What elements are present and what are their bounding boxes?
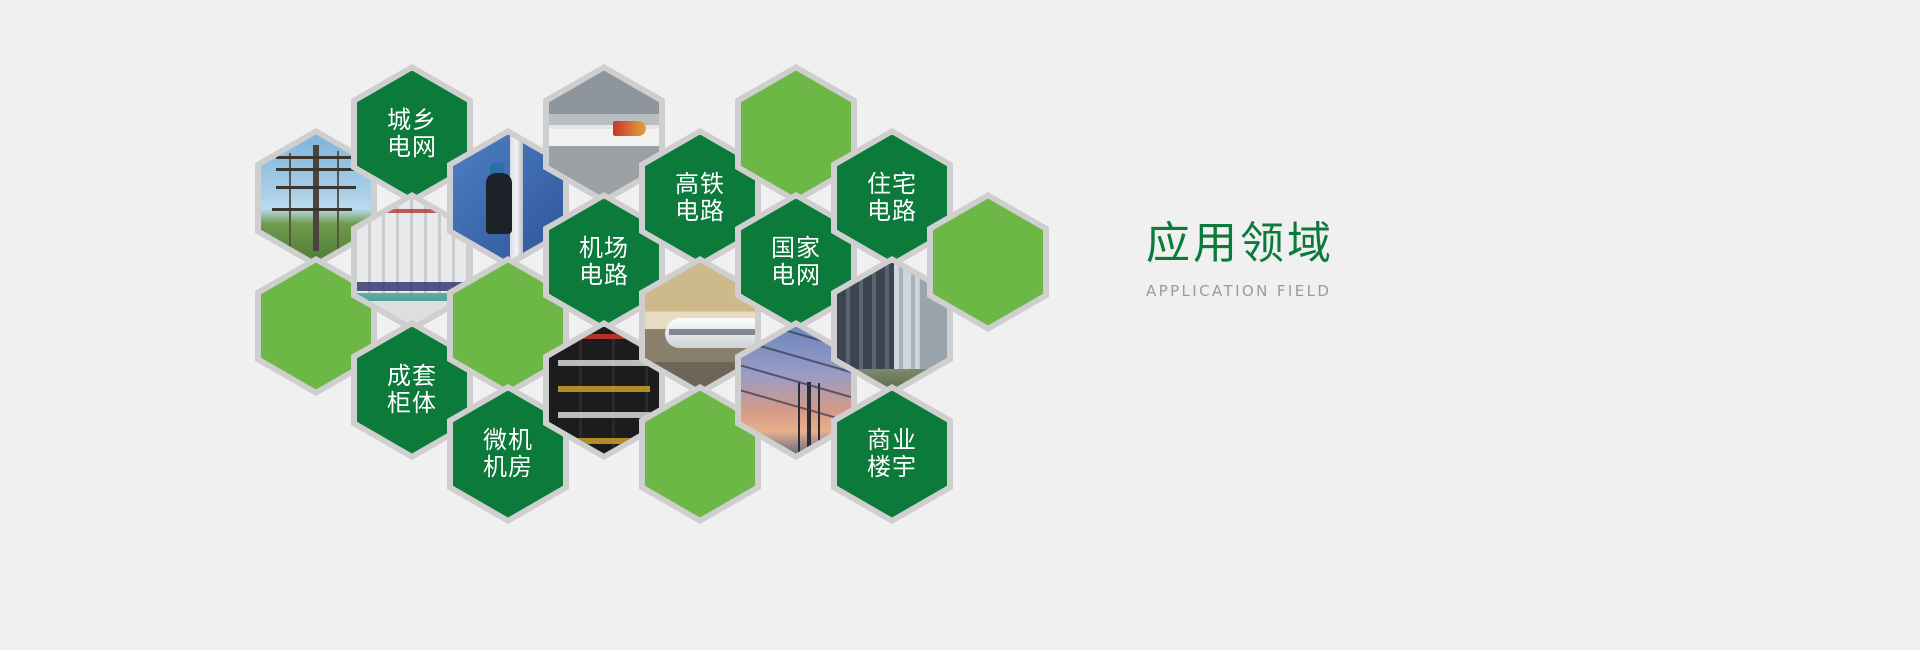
hex-category-label: 微机 机房 [483,427,533,481]
hex-category-label: 商业 楼宇 [867,427,917,481]
page-title: 应用领域 [1146,222,1334,266]
hex-category-label: 高铁 电路 [675,171,725,225]
hex-category-label: 成套 柜体 [387,363,437,417]
hex-category-label: 城乡 电网 [387,107,437,161]
heading-block: 应用领域 APPLICATION FIELD [1146,222,1334,300]
hex-category-label: 住宅 电路 [867,171,917,225]
page-subtitle: APPLICATION FIELD [1146,282,1334,300]
hex-category-label: 机场 电路 [579,235,629,289]
hex-inner [933,199,1043,326]
hex-inner: 商业 楼宇 [837,391,947,518]
application-field-banner: 城乡 电网成套 柜体微机 机房机场 电路高铁 电路国家 电网住宅 电路商业 楼宇… [0,0,1920,650]
hex-category-label: 国家 电网 [771,235,821,289]
